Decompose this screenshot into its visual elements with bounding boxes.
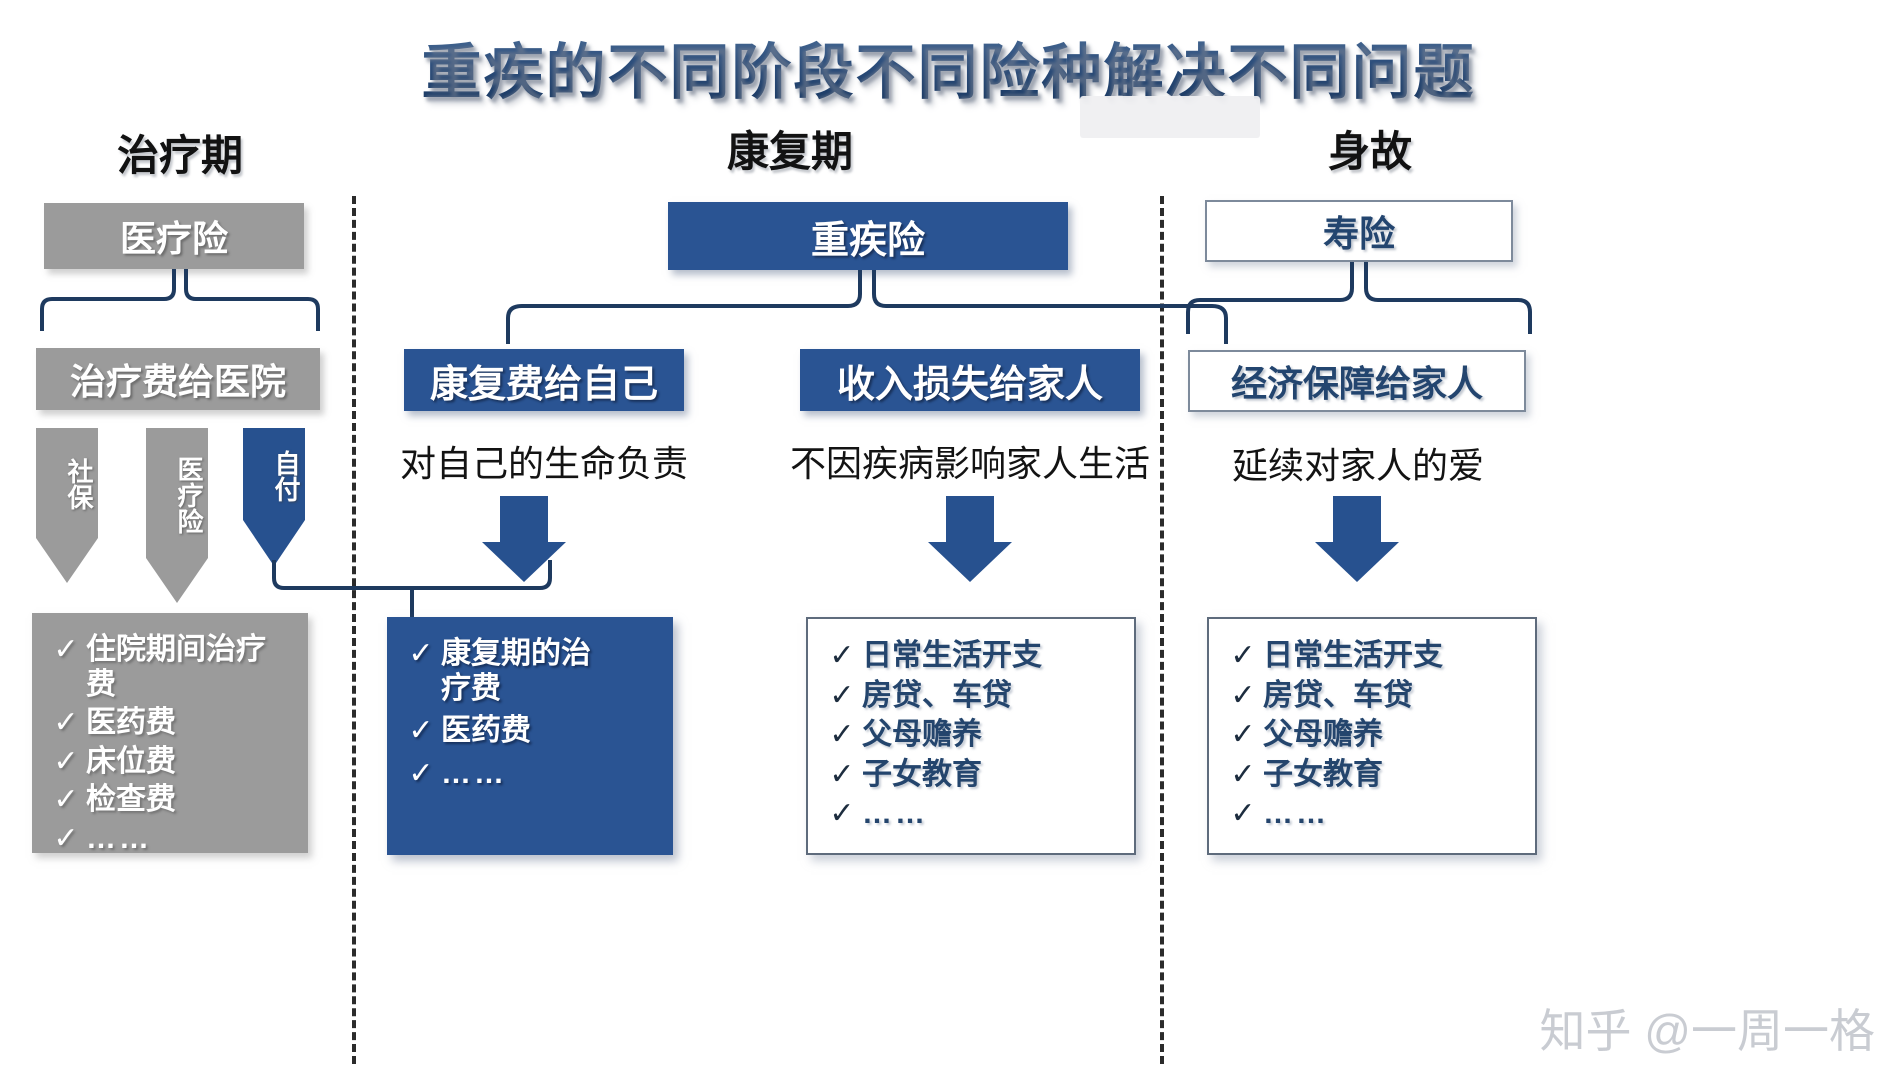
list-item: ✓ …… [401,757,659,792]
list-item: ✓ 住院期间治疗费 [46,633,294,702]
list-item-label: 康复期的治疗费 [441,637,591,706]
list-family-needs-illness: ✓ 日常生活开支 ✓ 房贷、车贷 ✓ 父母赡养 ✓ 子女教育 ✓ …… [806,617,1136,855]
check-icon: ✓ [1223,797,1263,830]
box-economic-protection-to-family: 经济保障给家人 [1188,350,1526,412]
list-item: ✓ …… [822,797,1120,832]
connector-bracket-col4 [1180,262,1540,338]
check-icon: ✓ [46,633,86,666]
list-item-label: 父母赡养 [1263,718,1383,753]
box-income-loss-to-family: 收入损失给家人 [800,349,1140,411]
list-item: ✓ 房贷、车贷 [822,679,1120,714]
arrow-social-insurance: 社保 [36,428,98,588]
column-header-death: 身故 [1220,118,1520,179]
check-icon: ✓ [822,797,862,830]
list-item-label: 房贷、车贷 [1263,679,1413,714]
arrow-label-medical: 医疗险 [146,432,208,558]
page-title: 重疾的不同阶段不同险种解决不同问题 [0,24,1897,111]
watermark: 知乎 @一周一格 [1540,995,1875,1061]
check-icon: ✓ [822,679,862,712]
list-item: ✓ 子女教育 [822,758,1120,793]
box-medical-insurance: 医疗险 [44,203,304,269]
column-header-treatment: 治疗期 [30,122,330,183]
list-item: ✓ 日常生活开支 [1223,639,1521,674]
list-item: ✓ …… [1223,797,1521,832]
arrow-down-income-loss [908,496,1032,582]
subtitle-death: 延续对家人的爱 [1180,437,1536,489]
list-treatment-costs: ✓ 住院期间治疗费 ✓ 医药费 ✓ 床位费 ✓ 检查费 ✓ …… [32,613,308,853]
check-icon: ✓ [822,718,862,751]
list-item-label: 检查费 [86,783,176,818]
check-icon: ✓ [46,706,86,739]
list-item: ✓ 检查费 [46,783,294,818]
list-item: ✓ 床位费 [46,745,294,780]
subtitle-income-loss: 不因疾病影响家人生活 [790,435,1150,487]
check-icon: ✓ [822,758,862,791]
box-recovery-fee-to-self: 康复费给自己 [404,349,684,411]
check-icon: ✓ [46,822,86,855]
list-item-label: 子女教育 [862,758,982,793]
check-icon: ✓ [1223,718,1263,751]
check-icon: ✓ [822,639,862,672]
list-item-label: 医药费 [86,706,176,741]
check-icon: ✓ [1223,639,1263,672]
arrow-down-recovery [462,496,586,582]
list-item: ✓ 日常生活开支 [822,639,1120,674]
connector-bracket-col2 [500,270,1240,348]
list-item-label: 医药费 [441,714,531,749]
check-icon: ✓ [1223,758,1263,791]
check-icon: ✓ [401,637,441,670]
connector-bracket-col1 [40,269,320,337]
check-icon: ✓ [1223,679,1263,712]
list-item: ✓ 父母赡养 [1223,718,1521,753]
list-item-label: 日常生活开支 [1263,639,1443,674]
divider-1 [352,196,356,1064]
list-item-label: …… [1263,797,1329,832]
list-item-label: 子女教育 [1263,758,1383,793]
arrow-self-pay: 自付 [243,428,305,568]
list-item: ✓ 房贷、车贷 [1223,679,1521,714]
box-treatment-fee-to-hospital: 治疗费给医院 [36,348,320,410]
diagram-canvas: 重疾的不同阶段不同险种解决不同问题 治疗期 医疗险 治疗费给医院 社保 医疗险 … [0,0,1897,1071]
subtitle-recovery: 对自己的生命负责 [384,435,704,487]
check-icon: ✓ [46,745,86,778]
box-life-insurance: 寿险 [1205,200,1513,262]
arrow-label-social: 社保 [36,432,98,536]
list-family-needs-death: ✓ 日常生活开支 ✓ 房贷、车贷 ✓ 父母赡养 ✓ 子女教育 ✓ …… [1207,617,1537,855]
column-header-recovery: 康复期 [640,118,940,179]
box-critical-illness-insurance: 重疾险 [668,202,1068,270]
arrow-label-selfpay: 自付 [243,432,305,520]
list-item: ✓ 医药费 [401,714,659,749]
list-item: ✓ 医药费 [46,706,294,741]
list-item-label: 住院期间治疗费 [86,633,294,702]
list-item: ✓ 子女教育 [1223,758,1521,793]
check-icon: ✓ [46,783,86,816]
list-item-label: …… [441,757,507,792]
list-item-label: …… [86,822,152,857]
list-item-label: 房贷、车贷 [862,679,1012,714]
list-item: ✓ 父母赡养 [822,718,1120,753]
list-recovery-costs: ✓ 康复期的治疗费 ✓ 医药费 ✓ …… [387,617,673,855]
arrow-down-death [1295,496,1419,582]
list-item-label: 父母赡养 [862,718,982,753]
list-item: ✓ …… [46,822,294,857]
arrow-medical-insurance: 医疗险 [146,428,208,608]
list-item-label: …… [862,797,928,832]
list-item: ✓ 康复期的治疗费 [401,637,659,706]
list-item-label: 日常生活开支 [862,639,1042,674]
check-icon: ✓ [401,714,441,747]
check-icon: ✓ [401,757,441,790]
list-item-label: 床位费 [86,745,176,780]
